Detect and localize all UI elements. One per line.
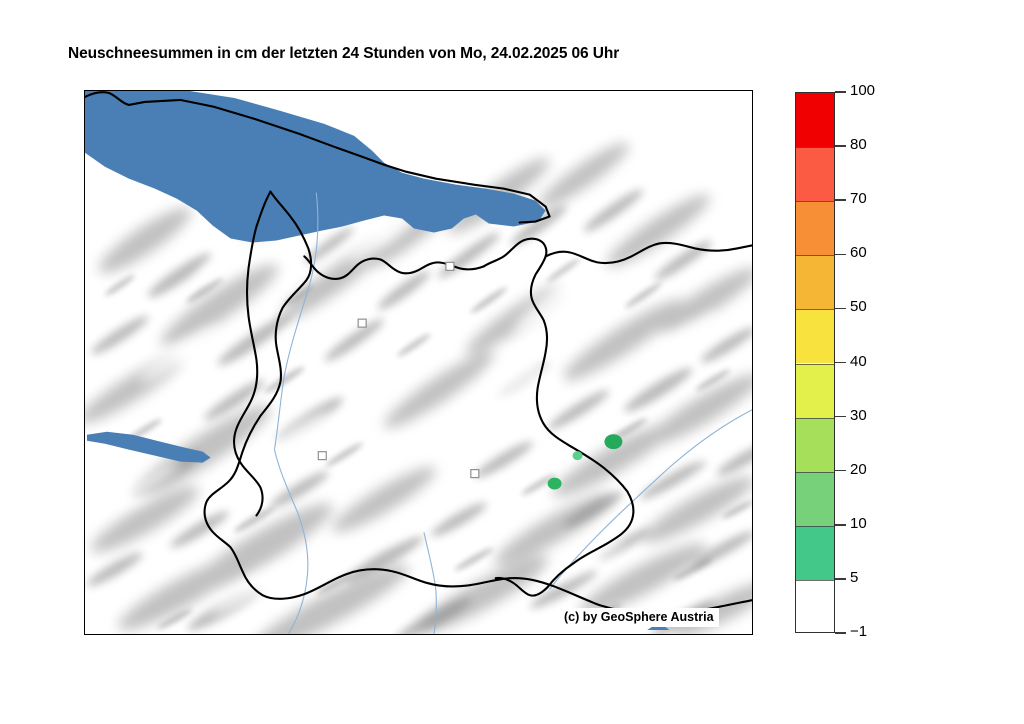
colorbar-band	[796, 472, 834, 526]
colorbar-tick-line	[835, 199, 846, 201]
colorbar-band	[796, 147, 834, 201]
colorbar-tick-label: 80	[850, 137, 867, 152]
colorbar-tick-line	[835, 91, 846, 93]
colorbar-separator	[796, 255, 834, 256]
colorbar-tick-label: 60	[850, 245, 867, 260]
colorbar-tick-line	[835, 632, 846, 634]
colorbar-separator	[796, 364, 834, 365]
colorbar-band	[796, 255, 834, 309]
colorbar-separator	[796, 580, 834, 581]
colorbar-tick-label: 20	[850, 462, 867, 477]
colorbar-band	[796, 526, 834, 580]
colorbar-tick-label: 5	[850, 570, 858, 585]
colorbar-tick-label: 10	[850, 516, 867, 531]
colorbar	[795, 92, 835, 633]
colorbar-separator	[796, 418, 834, 419]
station-marker	[318, 452, 326, 460]
colorbar-tick-line	[835, 470, 846, 472]
colorbar-tick-label: 40	[850, 354, 867, 369]
colorbar-separator	[796, 147, 834, 148]
colorbar-band	[796, 418, 834, 472]
colorbar-band	[796, 201, 834, 255]
colorbar-tick-label: 30	[850, 408, 867, 423]
colorbar-tick-label: −1	[850, 624, 867, 639]
colorbar-tick-line	[835, 416, 846, 418]
station-markers-layer	[85, 91, 752, 634]
colorbar-tick-line	[835, 254, 846, 256]
colorbar-tick-line	[835, 362, 846, 364]
colorbar-tick-label: 100	[850, 83, 875, 98]
attribution-label: (c) by GeoSphere Austria	[559, 608, 719, 627]
colorbar-band	[796, 93, 834, 147]
screenshot-root: Neuschneesummen in cm der letzten 24 Stu…	[0, 0, 1024, 724]
colorbar-band	[796, 580, 834, 633]
colorbar-separator	[796, 472, 834, 473]
station-marker	[471, 470, 479, 478]
colorbar-tick-line	[835, 578, 846, 580]
colorbar-separator	[796, 201, 834, 202]
colorbar-band	[796, 309, 834, 363]
page-title: Neuschneesummen in cm der letzten 24 Stu…	[68, 45, 619, 63]
colorbar-tick-line	[835, 308, 846, 310]
colorbar-tick-line	[835, 524, 846, 526]
colorbar-tick-label: 70	[850, 191, 867, 206]
colorbar-band	[796, 364, 834, 418]
station-marker	[358, 319, 366, 327]
map-panel[interactable]: (c) by GeoSphere Austria	[84, 90, 753, 635]
colorbar-separator	[796, 309, 834, 310]
colorbar-box	[795, 92, 835, 633]
colorbar-tick-line	[835, 145, 846, 147]
colorbar-separator	[796, 526, 834, 527]
colorbar-tick-label: 50	[850, 299, 867, 314]
station-marker	[446, 262, 454, 270]
